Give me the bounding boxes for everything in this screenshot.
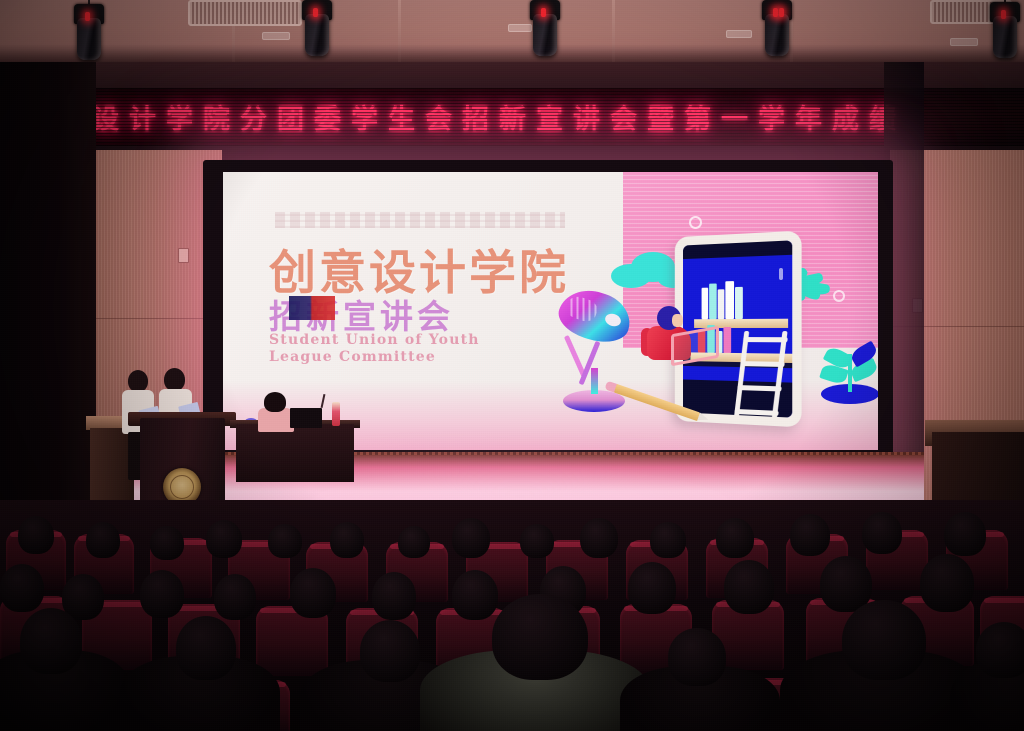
decor-dot [689,216,702,229]
ceiling-downlight-icon [726,30,752,38]
stage-light-fixture [528,0,562,56]
slide-microtext: 创意设计学院分团委学生会 [275,212,565,228]
auditorium-photo: 创意设计学院分团委学生会招新宣讲会暨第一学年成绩 创意设计学院分团委学生会 创意… [0,0,1024,731]
stage-right-table-body [932,432,1024,500]
stage-curtain-left [0,62,96,542]
slide-english-line1: Student Union of Youth [269,332,480,348]
tablet-device-icon [675,231,802,428]
decor-dot [779,268,783,280]
potted-plant-icon [815,344,878,406]
book-item [709,283,717,319]
stage-light-fixture [72,4,106,60]
light-indicator-led-icon [773,8,778,17]
light-indicator-led-icon [1001,10,1006,19]
led-banner-text: 创意设计学院分团委学生会招新宣讲会暨第一学年成绩 [18,98,906,137]
audience-seating [0,500,1024,731]
book-item [718,289,725,319]
book-item [725,281,734,319]
led-banner: 创意设计学院分团委学生会招新宣讲会暨第一学年成绩 [0,88,1024,146]
book-item [723,327,731,353]
operator-desk [236,424,354,482]
stage-light-fixture [760,0,794,56]
light-indicator-led-icon [313,8,318,17]
laptop-operator [258,392,292,426]
light-indicator-led-icon [779,8,784,17]
desk-lamp-post [591,368,598,394]
student-face [672,314,683,327]
stage-light-fixture [300,0,334,56]
light-indicator-led-icon [541,8,546,17]
ceiling [0,0,1024,70]
ceiling-downlight-icon [262,32,290,40]
wall-outlet-icon [178,248,189,263]
decor-dot [833,290,845,302]
book-item [735,287,743,319]
stage-light-fixture [988,2,1022,58]
light-indicator-led-icon [85,12,90,21]
ceiling-vent-icon [188,0,302,26]
slide-english-line2: League Committee [269,349,436,365]
slide-glitch-block [289,296,335,320]
water-bottle-icon [332,402,340,426]
book-item [702,288,709,320]
laptop-icon [290,408,322,428]
